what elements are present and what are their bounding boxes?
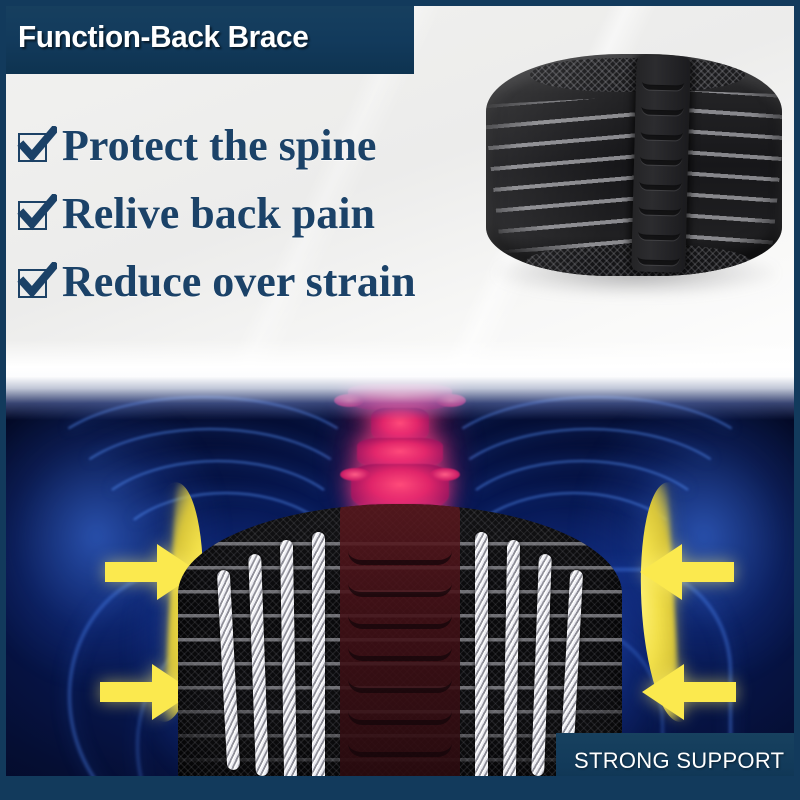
list-item: Reduce over strain — [16, 254, 416, 310]
check-mark-icon — [17, 194, 57, 234]
checkbox-checked-icon — [16, 264, 52, 300]
feature-label: Protect the spine — [62, 124, 376, 168]
feature-list: Protect the spine Relive back pain Reduc… — [16, 118, 416, 322]
checkbox-checked-icon — [16, 196, 52, 232]
check-mark-icon — [17, 262, 57, 302]
back-brace-product — [478, 34, 790, 314]
spring-stay — [475, 532, 488, 786]
scene-top-fade — [6, 376, 794, 420]
list-item: Protect the spine — [16, 118, 416, 174]
bottom-frame-bar — [0, 776, 800, 800]
feature-label: Reduce over strain — [62, 260, 416, 304]
product-elastic-stripes-left — [486, 97, 651, 254]
check-mark-icon — [17, 126, 57, 166]
compression-arrow-icon — [640, 660, 736, 724]
product-poster: Function-Back Brace Protect the spine Re… — [0, 0, 800, 800]
list-item: Relive back pain — [16, 186, 416, 242]
product-chevron-panel — [631, 55, 691, 272]
page-title: Function-Back Brace — [18, 19, 308, 55]
spring-stay — [312, 532, 325, 786]
worn-brace-center-panel — [340, 504, 460, 798]
feature-label: Relive back pain — [62, 192, 375, 236]
support-label: STRONG SUPPORT — [574, 748, 784, 774]
compression-arrow-icon — [638, 540, 734, 604]
product-brace-body — [486, 54, 782, 276]
title-banner: Function-Back Brace — [0, 0, 414, 74]
checkbox-checked-icon — [16, 128, 52, 164]
